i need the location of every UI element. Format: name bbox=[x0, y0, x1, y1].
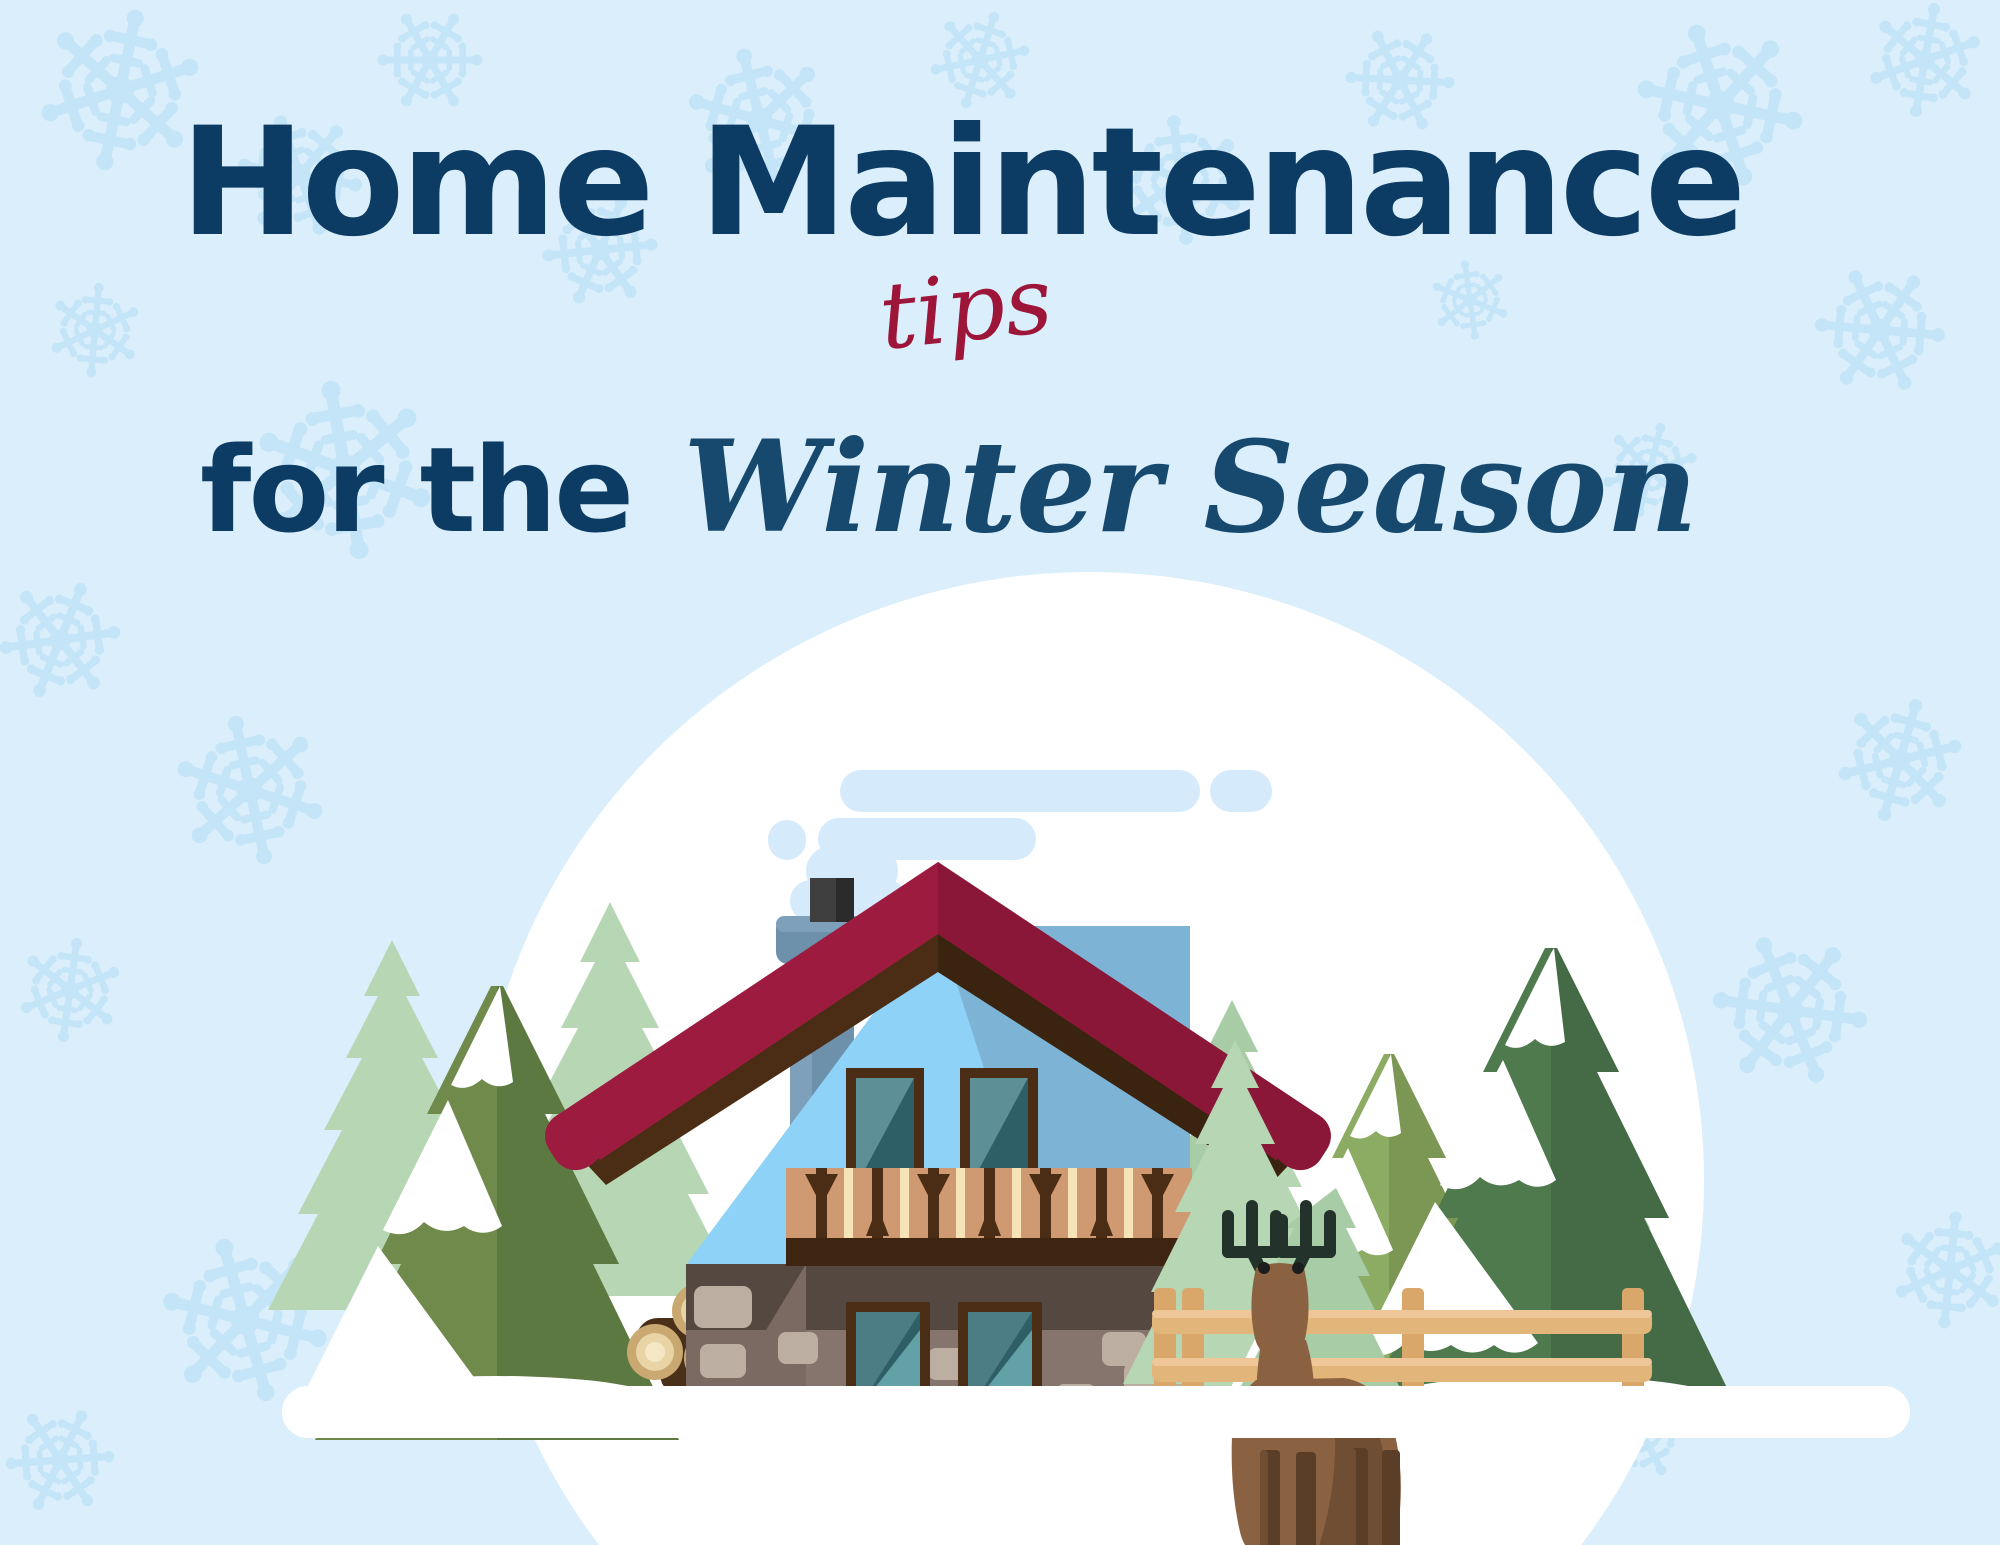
headline-line-2-prefix: for the bbox=[200, 431, 631, 549]
headline-line-1: Home Maintenance bbox=[180, 108, 1742, 258]
snow-ground-bar bbox=[282, 1386, 1910, 1438]
headline-script-word-tips: tips bbox=[875, 254, 1056, 364]
cabin-balcony bbox=[786, 1168, 1192, 1266]
log-end bbox=[627, 1324, 683, 1380]
headline-line-2: for the Winter Season bbox=[200, 424, 1697, 550]
poster-canvas: Home Maintenance tips for the Winter Sea… bbox=[0, 0, 2000, 1545]
headline-line-2-emphasis: Winter Season bbox=[683, 424, 1697, 550]
